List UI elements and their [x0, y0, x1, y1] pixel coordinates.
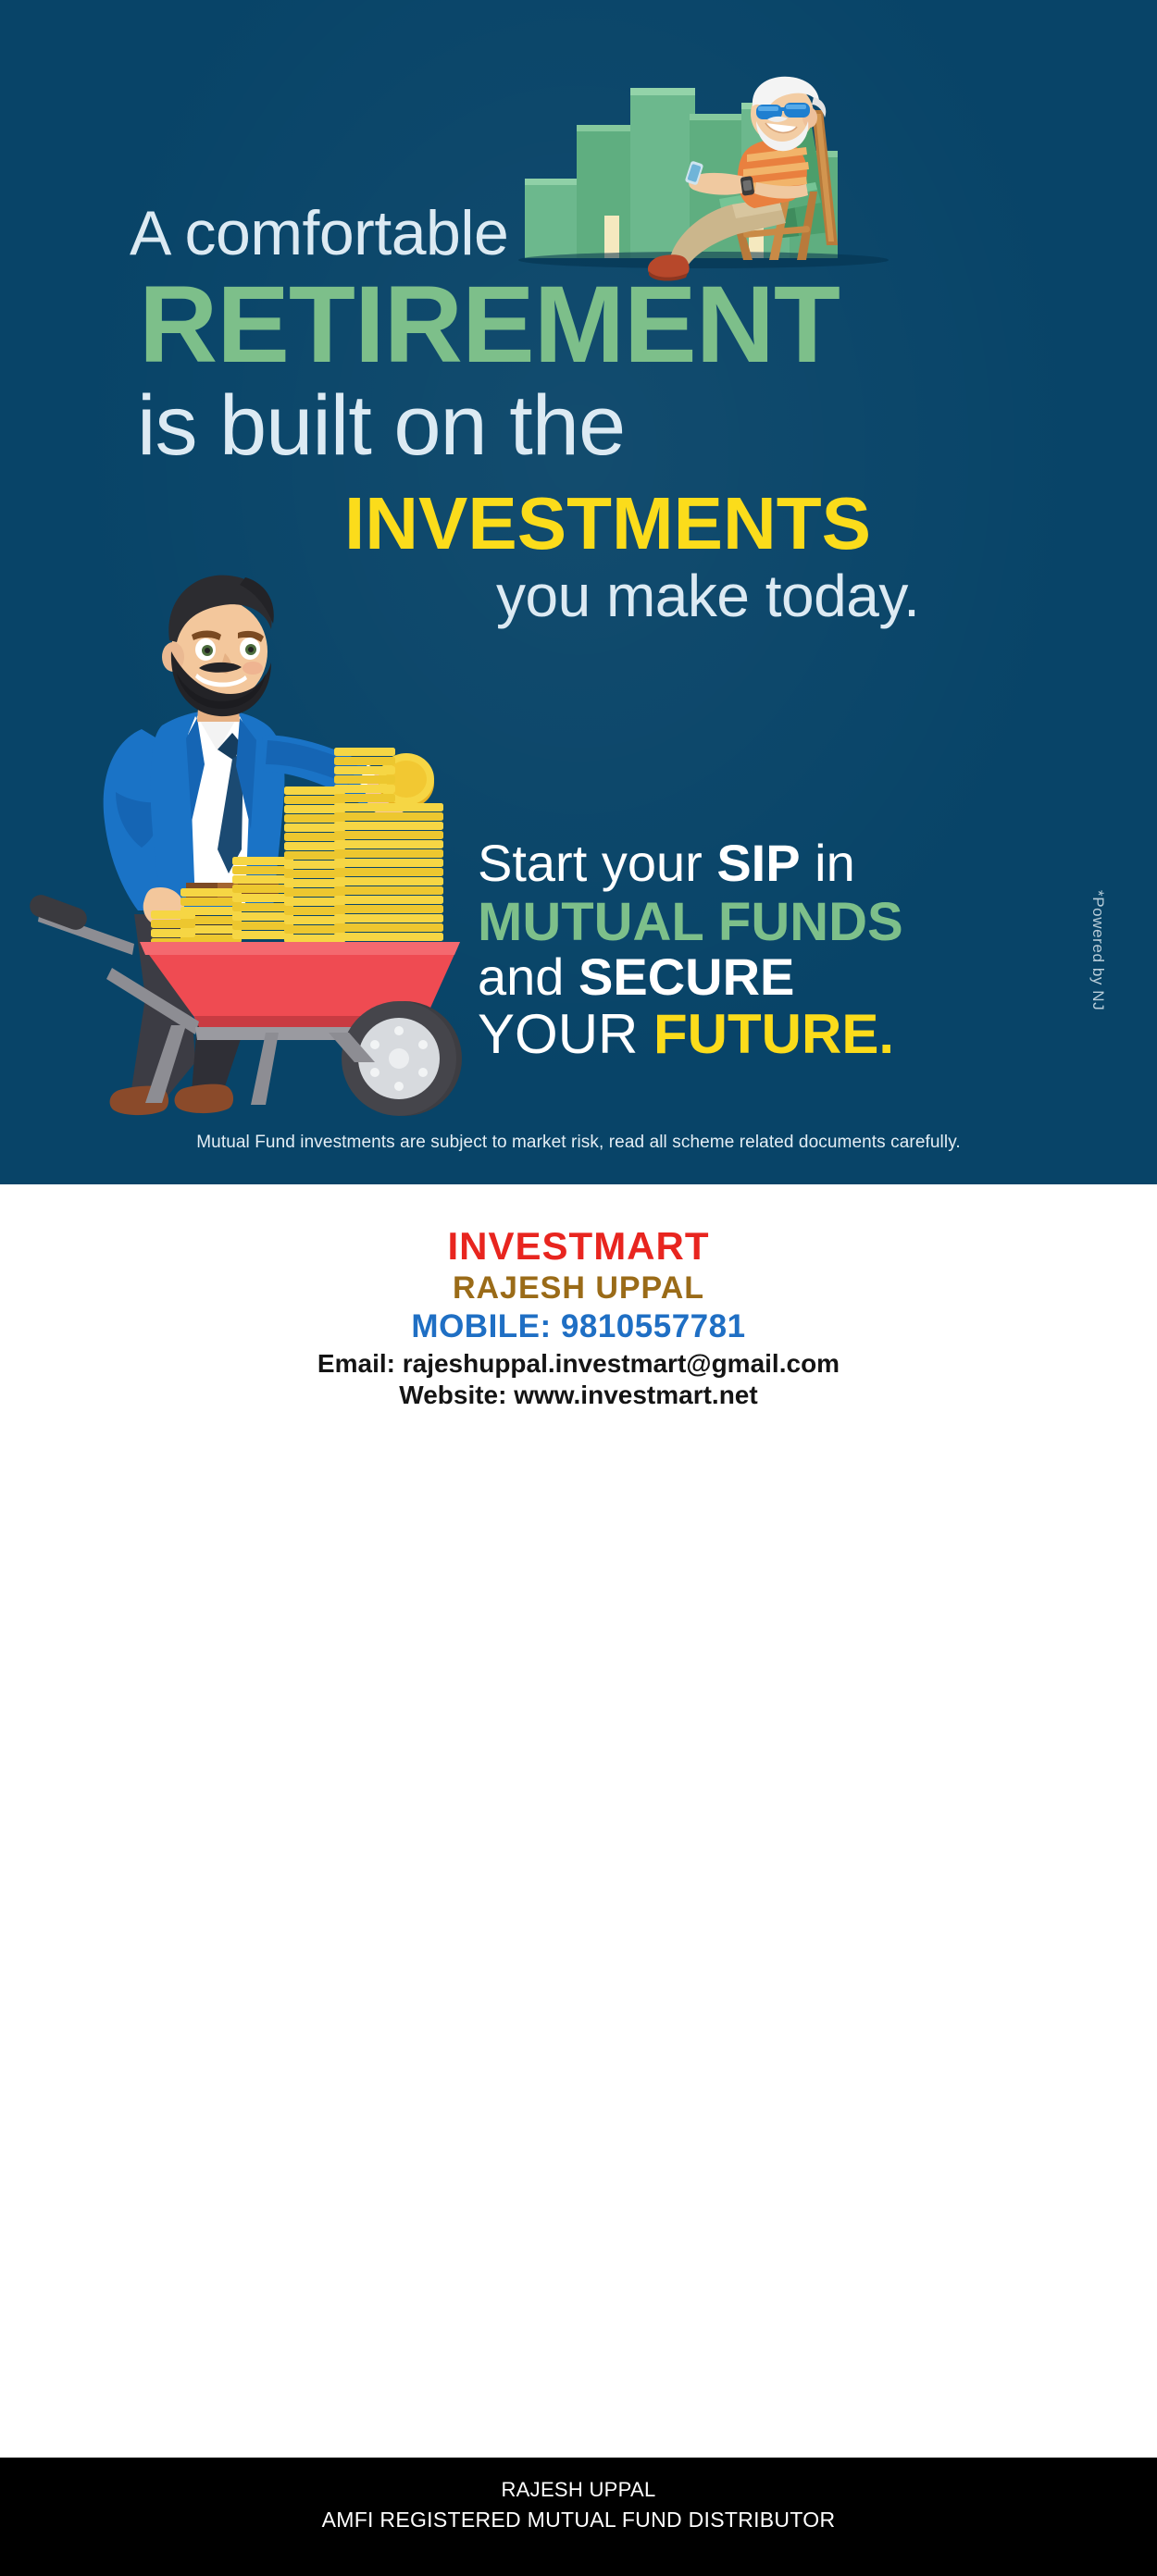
contact-section: INVESTMART RAJESH UPPAL MOBILE: 98105577…	[0, 1184, 1157, 2576]
cta-your: YOUR	[478, 1003, 653, 1065]
advisor-name: RAJESH UPPAL	[0, 1270, 1157, 1307]
headline-line-3: is built on the	[137, 383, 625, 468]
cta-line-2-mutual-funds: MUTUAL FUNDS	[478, 896, 903, 949]
headline-line-2-retirement: RETIREMENT	[139, 270, 840, 379]
cta-secure: SECURE	[578, 947, 794, 1006]
cta-sip: SIP	[716, 834, 800, 892]
footer-advisor-name: RAJESH UPPAL	[0, 2458, 1157, 2502]
cta-in: in	[801, 834, 855, 892]
poster-root: A comfortable RETIREMENT is built on the…	[0, 0, 1157, 1699]
coin-stack-5	[386, 803, 443, 941]
website-url[interactable]: Website: www.investmart.net	[0, 1381, 1157, 1410]
wristwatch	[740, 176, 755, 196]
businessman-head	[162, 576, 274, 722]
senior-deckchair-illustration	[504, 69, 893, 282]
powered-by-label: *Powered by NJ	[1089, 890, 1107, 1010]
hero-section: A comfortable RETIREMENT is built on the…	[0, 0, 1157, 1184]
cta-start-your: Start your	[478, 834, 716, 892]
footer-section: RAJESH UPPAL AMFI REGISTERED MUTUAL FUND…	[0, 2458, 1157, 2576]
company-brand-name: INVESTMART	[0, 1224, 1157, 1269]
footer-amfi-registration: AMFI REGISTERED MUTUAL FUND DISTRIBUTOR	[0, 2508, 1157, 2533]
cta-future: FUTURE.	[653, 1003, 894, 1065]
headline-line-1: A comfortable	[130, 202, 508, 265]
email-address[interactable]: Email: rajeshuppal.investmart@gmail.com	[0, 1349, 1157, 1379]
businessman-wheelbarrow-illustration	[23, 544, 523, 1136]
cta-line-3: and SECURE	[478, 951, 794, 1003]
coin-stack-2	[232, 857, 293, 939]
market-risk-disclaimer: Mutual Fund investments are subject to m…	[0, 1133, 1157, 1153]
mobile-number[interactable]: MOBILE: 9810557781	[0, 1308, 1157, 1345]
cta-line-1: Start your SIP in	[478, 837, 855, 889]
cta-and: and	[478, 947, 578, 1006]
cta-line-4: YOUR FUTURE.	[478, 1007, 894, 1062]
headline-line-5: you make today.	[496, 566, 919, 625]
